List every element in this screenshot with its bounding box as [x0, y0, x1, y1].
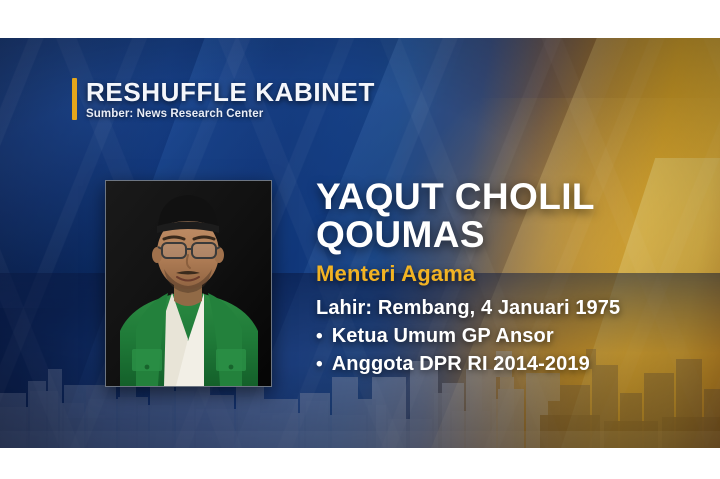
person-name-line2: QOUMAS [316, 216, 706, 254]
bullet-icon: • [316, 327, 323, 346]
page-title: RESHUFFLE KABINET [86, 78, 375, 106]
person-role: Menteri Agama [316, 261, 706, 287]
list-item: • Anggota DPR RI 2014-2019 [316, 353, 706, 376]
news-graphic-card: RESHUFFLE KABINET Sumber: News Research … [0, 0, 720, 479]
list-item-label: Ketua Umum GP Ansor [332, 325, 554, 348]
header-block: RESHUFFLE KABINET Sumber: News Research … [72, 78, 375, 120]
portrait-photo [105, 180, 272, 387]
graphic-band: RESHUFFLE KABINET Sumber: News Research … [0, 38, 720, 448]
list-item: • Ketua Umum GP Ansor [316, 325, 706, 348]
profile-block: YAQUT CHOLIL QOUMAS Menteri Agama Lahir:… [316, 178, 706, 376]
person-name: YAQUT CHOLIL QOUMAS [316, 178, 706, 254]
source-label: Sumber: News Research Center [86, 108, 375, 120]
bullet-icon: • [316, 355, 323, 374]
birth-info: Lahir: Rembang, 4 Januari 1975 [316, 297, 706, 320]
list-item-label: Anggota DPR RI 2014-2019 [332, 353, 590, 376]
person-name-line1: YAQUT CHOLIL [316, 178, 706, 216]
accent-bar-icon [72, 78, 77, 120]
credentials-list: • Ketua Umum GP Ansor • Anggota DPR RI 2… [316, 325, 706, 376]
